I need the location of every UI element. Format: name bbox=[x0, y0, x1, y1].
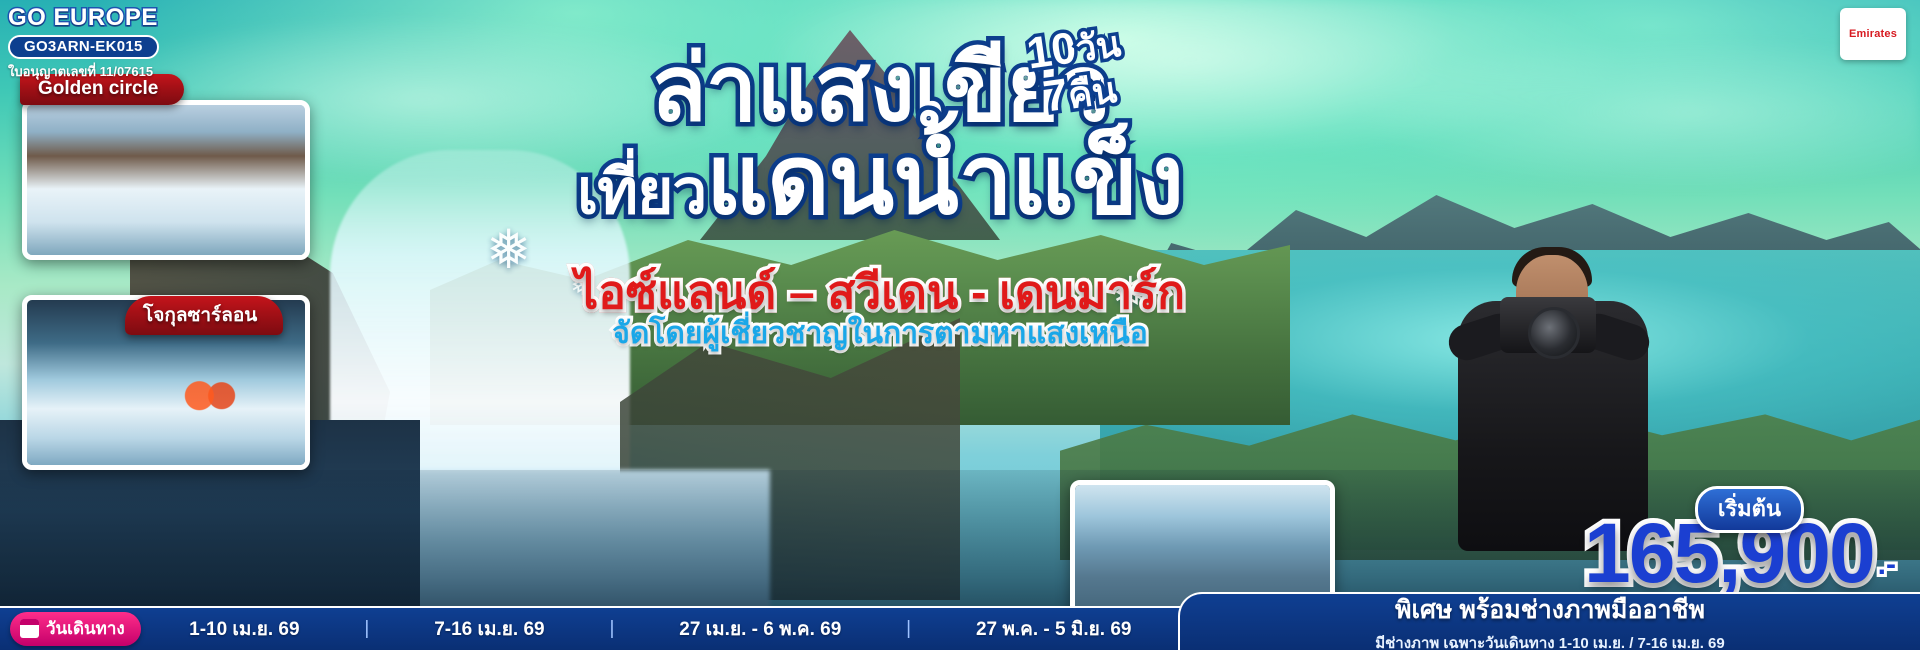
headline-line-1: ล่าแสงเขียว bbox=[430, 46, 1330, 133]
licence-number: ใบอนุญาตเลขที่ 11/07615 bbox=[8, 61, 159, 82]
headline-line-2-main: แดนน้ำแข็ง bbox=[706, 127, 1183, 234]
date-separator: | bbox=[364, 618, 369, 640]
duration-badge: 10วัน 7คืน bbox=[1024, 20, 1129, 122]
price-block: เริ่มต้น 165,900 .- bbox=[1584, 516, 1896, 592]
headline-line-2-prefix: เที่ยว bbox=[577, 158, 706, 227]
promo-headline: พิเศษ พร้อมช่างภาพมืออาชีพ bbox=[1395, 590, 1705, 630]
brand-name: GO EUROPE bbox=[8, 4, 159, 32]
emirates-logo: Emirates bbox=[1840, 8, 1906, 60]
travel-banner: GO EUROPE GO3ARN-EK015 ใบอนุญาตเลขที่ 11… bbox=[0, 0, 1920, 650]
date-separator: | bbox=[609, 618, 614, 640]
departure-date[interactable]: 7-16 เม.ย. 69 bbox=[434, 614, 544, 644]
duration-days-unit: วัน bbox=[1073, 23, 1123, 70]
duration-days-number: 10 bbox=[1024, 23, 1079, 78]
departure-dates-list: 1-10 เม.ย. 69 | 7-16 เม.ย. 69 | 27 เม.ย.… bbox=[141, 614, 1180, 644]
photographer-figure bbox=[1430, 215, 1680, 545]
departure-date[interactable]: 27 พ.ค. - 5 มิ.ย. 69 bbox=[976, 614, 1132, 644]
expert-tagline: จัดโดยผู้เชี่ยวชาญในการตามหาแสงเหนือ bbox=[430, 310, 1330, 357]
calendar-icon bbox=[20, 619, 39, 638]
departure-label-pill: วันเดินทาง bbox=[10, 612, 141, 646]
ribbon-jokulsarlon: โจกุลซาร์ลอน bbox=[125, 296, 283, 335]
promo-subtext: มีช่างภาพ เฉพาะวันเดินทาง 1-10 เม.ย. / 7… bbox=[1375, 631, 1725, 650]
camera-lens-icon bbox=[1528, 307, 1580, 359]
departure-date[interactable]: 27 เม.ย. - 6 พ.ค. 69 bbox=[679, 614, 841, 644]
departure-bar: วันเดินทาง 1-10 เม.ย. 69 | 7-16 เม.ย. 69… bbox=[0, 606, 1180, 650]
promo-bar: พิเศษ พร้อมช่างภาพมืออาชีพ มีช่างภาพ เฉพ… bbox=[1178, 592, 1920, 650]
headline-group: ล่าแสงเขียว เที่ยวแดนน้ำแข็ง bbox=[430, 46, 1330, 227]
headline-line-2: เที่ยวแดนน้ำแข็ง bbox=[430, 135, 1330, 226]
brand-logo-block: GO EUROPE GO3ARN-EK015 ใบอนุญาตเลขที่ 11… bbox=[8, 4, 159, 82]
departure-date[interactable]: 1-10 เม.ย. 69 bbox=[189, 614, 299, 644]
photo-card-golden-circle bbox=[22, 100, 310, 260]
emirates-label: Emirates bbox=[1849, 28, 1897, 40]
duration-nights-unit: คืน bbox=[1065, 69, 1119, 116]
date-separator: | bbox=[906, 618, 911, 640]
tour-code: GO3ARN-EK015 bbox=[8, 35, 159, 59]
departure-label: วันเดินทาง bbox=[46, 615, 125, 642]
gullfoss-photo bbox=[27, 105, 305, 255]
price-start-badge: เริ่มต้น bbox=[1695, 486, 1804, 533]
price-currency-suffix: .- bbox=[1878, 548, 1896, 582]
